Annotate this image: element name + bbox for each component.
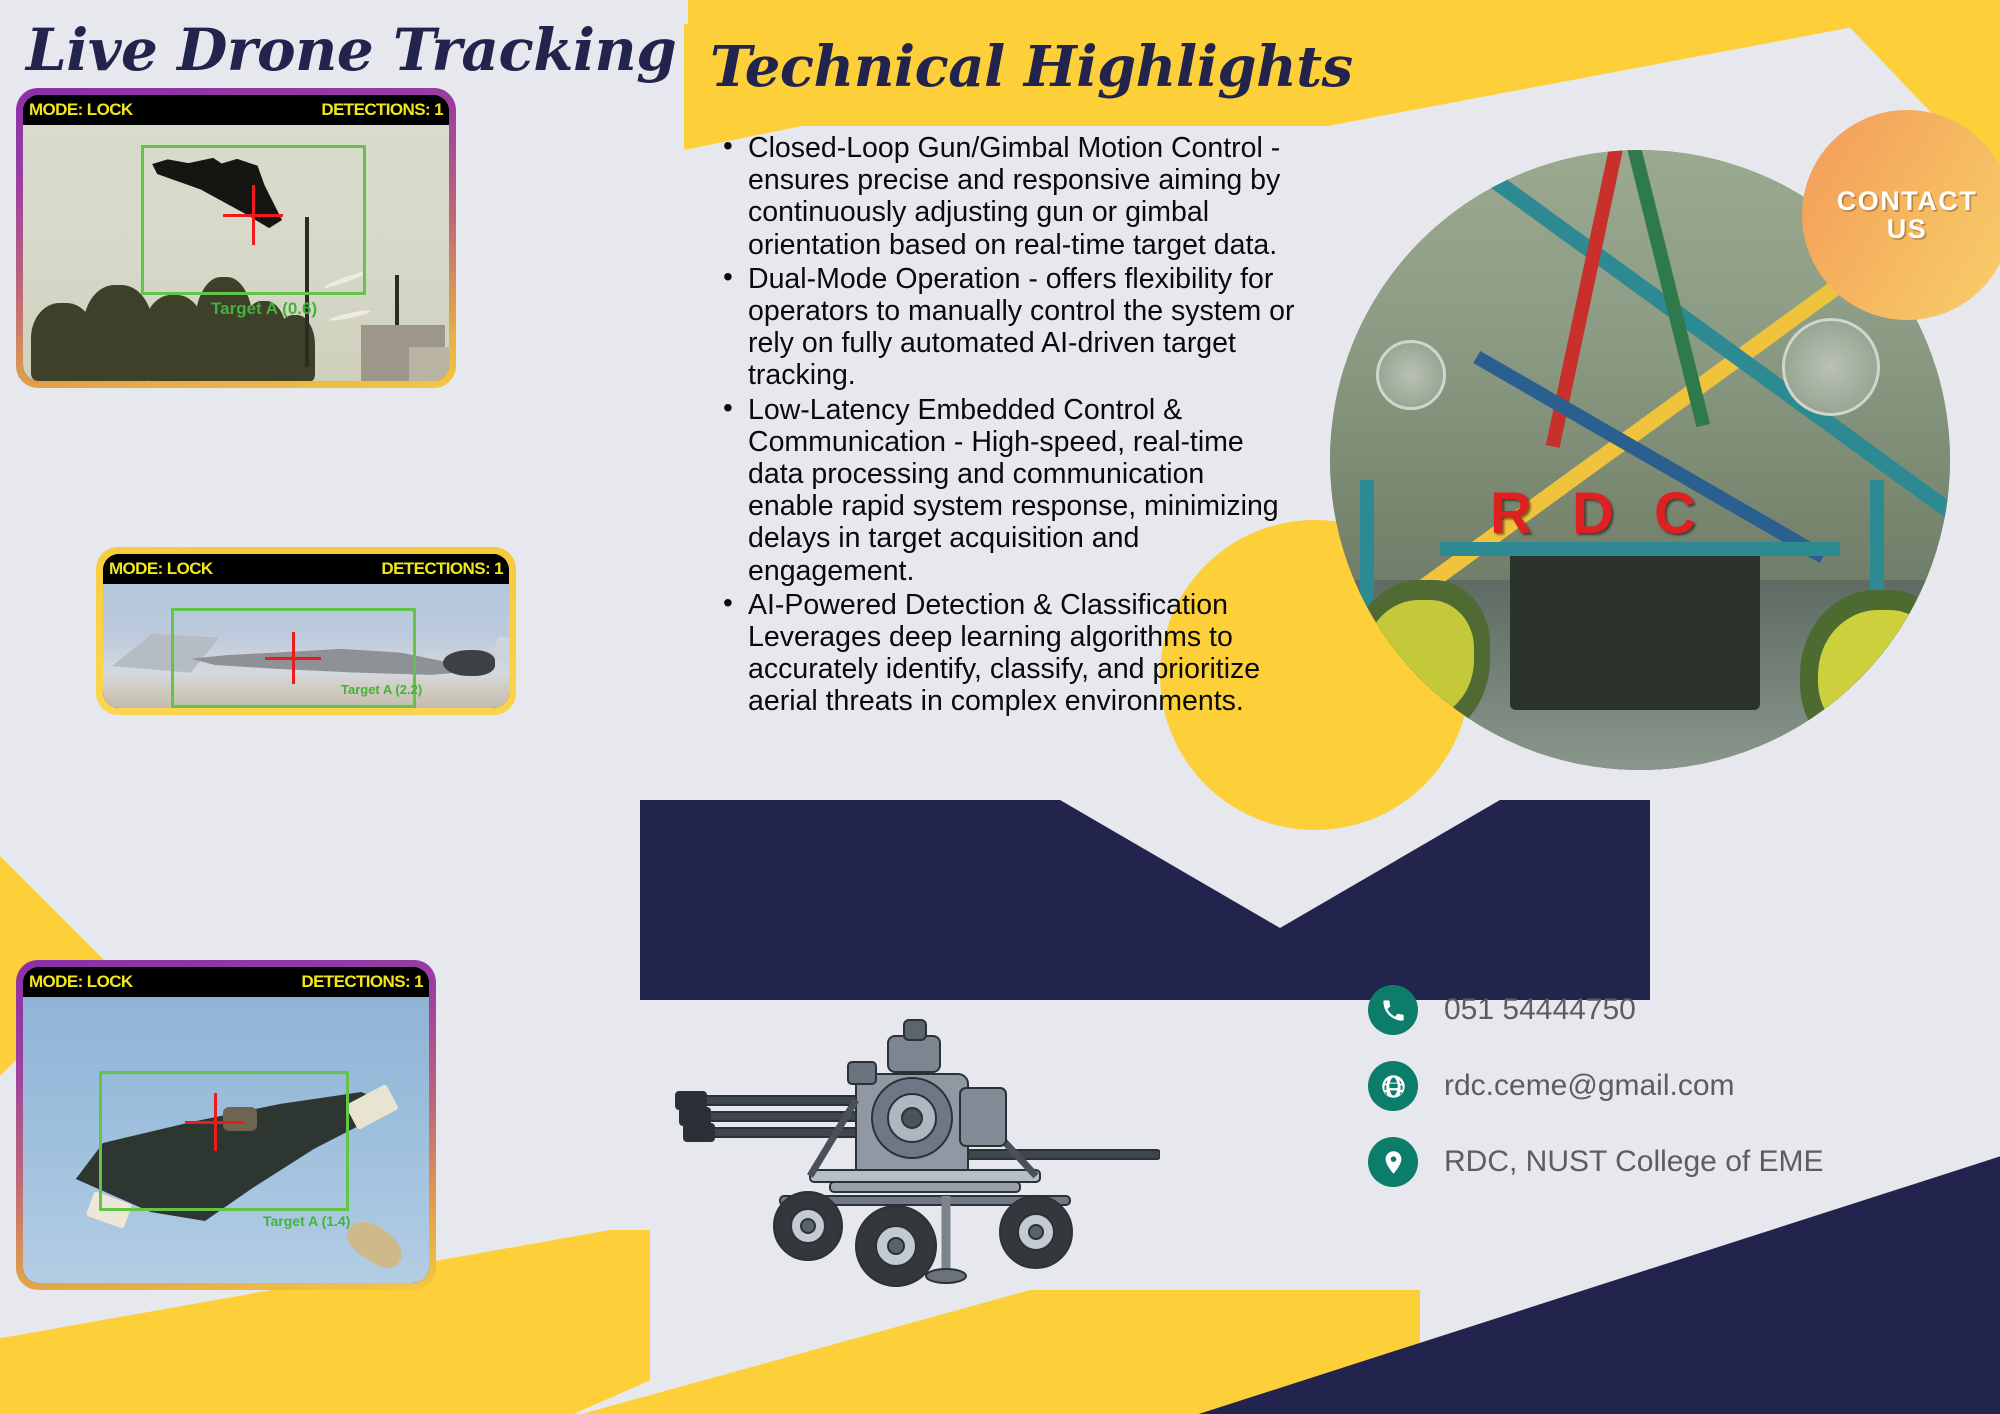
crosshair-dot xyxy=(213,1120,217,1124)
tracking-panel-3-view: Target A (1.4) MODE: LOCK DETECTIONS: 1 xyxy=(23,967,429,1283)
page-title-left: Live Drone Tracking xyxy=(26,16,676,84)
hud-mode-label: MODE: LOCK xyxy=(29,100,133,120)
badge-line-1: CONTACT xyxy=(1837,186,1977,216)
address: RDC, NUST College of EME xyxy=(1444,1145,1824,1179)
location-pin-icon xyxy=(1368,1137,1418,1187)
crosshair-dot xyxy=(251,213,255,217)
crosshair-center-gap xyxy=(281,646,305,670)
target-label: Target A (1.4) xyxy=(263,1213,350,1229)
tree xyxy=(275,315,315,381)
panel-1-scene: Target A (0.6) xyxy=(23,125,449,381)
panel-2-scene: Target A (2.2) xyxy=(103,584,509,708)
hud-mode-label: MODE: LOCK xyxy=(109,559,213,579)
bush xyxy=(1364,600,1474,720)
contact-row-phone[interactable]: 051 54444750 xyxy=(1368,985,1824,1035)
contact-row-email[interactable]: rdc.ceme@gmail.com xyxy=(1368,1061,1824,1111)
globe-icon xyxy=(1368,1061,1418,1111)
tracking-panel-1: Target A (0.6) MODE: LOCK DETECTIONS: 1 xyxy=(16,88,456,388)
email-address: rdc.ceme@gmail.com xyxy=(1444,1069,1735,1103)
tracking-panel-3: Target A (1.4) MODE: LOCK DETECTIONS: 1 xyxy=(16,960,436,1290)
panel-3-scene: Target A (1.4) xyxy=(23,997,429,1283)
tracking-panel-2: Target A (2.2) MODE: LOCK DETECTIONS: 1 xyxy=(96,547,516,715)
university-seal-right xyxy=(1782,318,1880,416)
target-label: Target A (0.6) xyxy=(211,299,317,319)
tracking-panel-1-view: Target A (0.6) MODE: LOCK DETECTIONS: 1 xyxy=(23,95,449,381)
page-title-right: Technical Highlights xyxy=(710,34,1353,100)
rdc-sign-text: R D C xyxy=(1490,480,1708,547)
highlight-item: Dual-Mode Operation - offers flexibility… xyxy=(712,263,1297,392)
building xyxy=(409,347,449,381)
contact-us-badge-text: CONTACTUS xyxy=(1837,187,1977,244)
bush xyxy=(1818,610,1938,740)
hud-detections-label: DETECTIONS: 1 xyxy=(381,559,503,579)
hud-mode-label: MODE: LOCK xyxy=(29,972,133,992)
entrance-opening xyxy=(1510,550,1760,710)
crosshair-dot xyxy=(291,656,295,660)
panel-1-hud-header: MODE: LOCK DETECTIONS: 1 xyxy=(23,95,449,125)
highlight-item: AI-Powered Detection & Classification Le… xyxy=(712,589,1297,718)
crosshair-center-gap xyxy=(241,203,265,227)
badge-line-2: US xyxy=(1887,214,1928,244)
phone-number: 051 54444750 xyxy=(1444,993,1636,1027)
panel-2-hud-header: MODE: LOCK DETECTIONS: 1 xyxy=(103,554,509,584)
crosshair-center-gap xyxy=(203,1110,227,1134)
hud-detections-label: DETECTIONS: 1 xyxy=(301,972,423,992)
anti-aircraft-gun-illustration xyxy=(660,1000,1160,1300)
contact-details: 051 54444750 rdc.ceme@gmail.com RDC, NUS… xyxy=(1368,985,1824,1213)
hud-detections-label: DETECTIONS: 1 xyxy=(321,100,443,120)
contact-us-badge[interactable]: CONTACTUS xyxy=(1802,110,2000,320)
target-label: Target A (2.2) xyxy=(341,682,422,697)
highlight-item: Low-Latency Embedded Control & Communica… xyxy=(712,394,1297,587)
phone-icon xyxy=(1368,985,1418,1035)
technical-highlights-list: Closed-Loop Gun/Gimbal Motion Control - … xyxy=(712,132,1297,720)
university-seal-left xyxy=(1376,340,1446,410)
highlight-item: Closed-Loop Gun/Gimbal Motion Control - … xyxy=(712,132,1297,261)
contact-row-location[interactable]: RDC, NUST College of EME xyxy=(1368,1137,1824,1187)
panel-3-hud-header: MODE: LOCK DETECTIONS: 1 xyxy=(23,967,429,997)
poster-canvas: Live Drone Tracking Technical Highlights… xyxy=(0,0,2000,1414)
drone-nose xyxy=(443,650,495,676)
tracking-panel-2-view: Target A (2.2) MODE: LOCK DETECTIONS: 1 xyxy=(103,554,509,708)
